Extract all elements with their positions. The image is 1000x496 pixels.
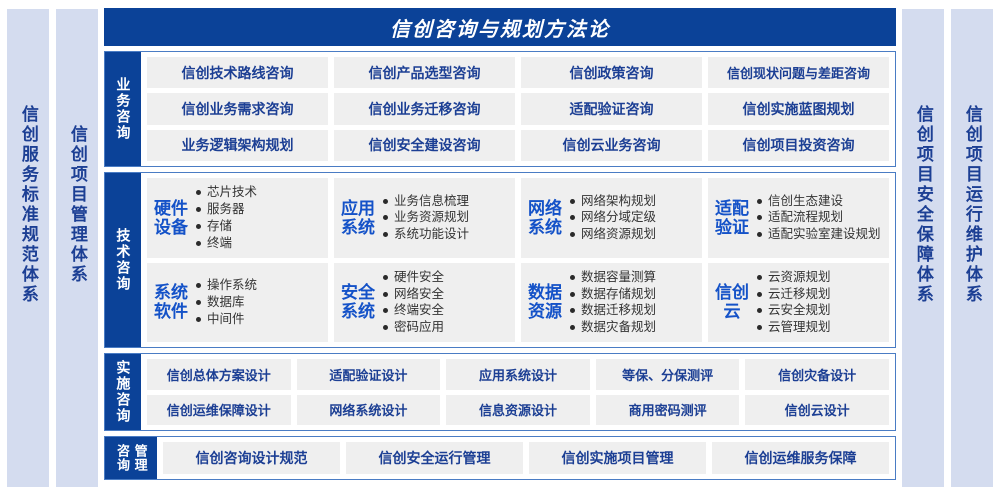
card-list-item: 服务器 [195, 201, 322, 218]
card-security-system[interactable]: 安全系统 硬件安全 网络安全 终端安全 密码应用 [334, 263, 515, 343]
card-application-system[interactable]: 应用系统 业务信息梳理 业务资源规划 系统功能设计 [334, 178, 515, 258]
card-list-item: 芯片技术 [195, 184, 322, 201]
card-title: 应用系统 [340, 199, 376, 237]
card-list-item: 网络分域定级 [569, 209, 696, 226]
band-label-technical-consulting-text: 技术咨询 [116, 228, 131, 292]
card-list-item: 网络安全 [382, 286, 509, 303]
card-list-item: 终端安全 [382, 302, 509, 319]
card-list: 硬件安全 网络安全 终端安全 密码应用 [382, 269, 509, 336]
band-label-implementation-consulting-text: 实施咨询 [116, 360, 131, 424]
chip-item[interactable]: 信创现状问题与差距咨询 [708, 57, 889, 88]
diagram-root: 信创服务标准规范体系 信创项目管理体系 信创咨询与规划方法论 业务咨询 信创技术… [0, 0, 1000, 496]
card-list-item: 数据容量测算 [569, 269, 696, 286]
chip-row: 信创总体方案设计 适配验证设计 应用系统设计 等保、分保测评 信创灾备设计 [147, 359, 889, 390]
card-list-item: 云资源规划 [756, 269, 883, 286]
card-list-item: 适配实验室建设规划 [756, 226, 883, 243]
chip-item[interactable]: 信创业务迁移咨询 [334, 93, 515, 124]
band-label-consulting-text: 咨询 [115, 444, 129, 472]
chip-item[interactable]: 应用系统设计 [446, 359, 590, 390]
chip-item[interactable]: 信创产品选型咨询 [334, 57, 515, 88]
band-body-consulting-management: 信创咨询设计规范 信创安全运行管理 信创实施项目管理 信创运维服务保障 [157, 437, 895, 479]
pillar-right-project-security-label: 信创项目安全保障体系 [914, 105, 932, 305]
band-label-business-consulting: 业务咨询 [105, 52, 141, 166]
band-business-consulting: 业务咨询 信创技术路线咨询 信创产品选型咨询 信创政策咨询 信创现状问题与差距咨… [104, 51, 896, 167]
chip-row: 信创技术路线咨询 信创产品选型咨询 信创政策咨询 信创现状问题与差距咨询 [147, 57, 889, 88]
card-title: 适配验证 [714, 199, 750, 237]
card-list: 芯片技术 服务器 存储 终端 [195, 184, 322, 251]
card-list-item: 中间件 [195, 311, 322, 328]
card-row: 系统软件 操作系统 数据库 中间件 安全系统 硬件安全 网络安全 终端安全 [147, 263, 889, 343]
card-hardware-devices[interactable]: 硬件设备 芯片技术 服务器 存储 终端 [147, 178, 328, 258]
card-list: 操作系统 数据库 中间件 [195, 277, 322, 327]
chip-item[interactable]: 信创咨询设计规范 [163, 442, 340, 474]
chip-item[interactable]: 信创项目投资咨询 [708, 130, 889, 161]
chip-item[interactable]: 适配验证设计 [297, 359, 441, 390]
band-label-consulting-management: 咨询 管理 [105, 437, 157, 479]
chip-item[interactable]: 信创技术路线咨询 [147, 57, 328, 88]
card-title: 信创云 [714, 283, 750, 321]
card-list-item: 网络架构规划 [569, 193, 696, 210]
chip-item[interactable]: 信创政策咨询 [521, 57, 702, 88]
card-network-system[interactable]: 网络系统 网络架构规划 网络分域定级 网络资源规划 [521, 178, 702, 258]
card-row: 硬件设备 芯片技术 服务器 存储 终端 应用系统 业务信息梳理 业务资源规划 [147, 178, 889, 258]
chip-item[interactable]: 信创实施蓝图规划 [708, 93, 889, 124]
card-list: 网络架构规划 网络分域定级 网络资源规划 [569, 193, 696, 243]
card-list-item: 密码应用 [382, 319, 509, 336]
chip-item[interactable]: 信创灾备设计 [745, 359, 889, 390]
card-list-item: 网络资源规划 [569, 226, 696, 243]
card-list: 云资源规划 云迁移规划 云安全规划 云管理规划 [756, 269, 883, 336]
card-list: 数据容量测算 数据存储规划 数据迁移规划 数据灾备规划 [569, 269, 696, 336]
chip-item[interactable]: 信息资源设计 [446, 395, 590, 426]
card-xinchuang-cloud[interactable]: 信创云 云资源规划 云迁移规划 云安全规划 云管理规划 [708, 263, 889, 343]
card-list-item: 终端 [195, 235, 322, 252]
chip-item[interactable]: 网络系统设计 [297, 395, 441, 426]
pillar-right-project-operations: 信创项目运行维护体系 [950, 8, 994, 488]
card-list-item: 业务资源规划 [382, 209, 509, 226]
pillar-left-service-standard-label: 信创服务标准规范体系 [19, 105, 37, 305]
chip-item[interactable]: 信创业务需求咨询 [147, 93, 328, 124]
pillar-left-service-standard: 信创服务标准规范体系 [6, 8, 50, 488]
card-list-item: 数据库 [195, 294, 322, 311]
card-list-item: 云迁移规划 [756, 286, 883, 303]
band-body-business-consulting: 信创技术路线咨询 信创产品选型咨询 信创政策咨询 信创现状问题与差距咨询 信创业… [141, 52, 895, 166]
chip-item[interactable]: 信创运维服务保障 [712, 442, 889, 474]
chip-item[interactable]: 商用密码测评 [596, 395, 740, 426]
card-list: 业务信息梳理 业务资源规划 系统功能设计 [382, 193, 509, 243]
chip-item[interactable]: 信创安全建设咨询 [334, 130, 515, 161]
card-list-item: 系统功能设计 [382, 226, 509, 243]
card-adaptation-verification[interactable]: 适配验证 信创生态建设 适配流程规划 适配实验室建设规划 [708, 178, 889, 258]
card-list-item: 存储 [195, 218, 322, 235]
card-list-item: 业务信息梳理 [382, 193, 509, 210]
chip-item[interactable]: 业务逻辑架构规划 [147, 130, 328, 161]
pillar-left-project-management: 信创项目管理体系 [55, 8, 99, 488]
band-label-business-consulting-text: 业务咨询 [116, 77, 131, 141]
chip-row: 信创运维保障设计 网络系统设计 信息资源设计 商用密码测评 信创云设计 [147, 395, 889, 426]
card-data-resources[interactable]: 数据资源 数据容量测算 数据存储规划 数据迁移规划 数据灾备规划 [521, 263, 702, 343]
card-list-item: 操作系统 [195, 277, 322, 294]
chip-item[interactable]: 适配验证咨询 [521, 93, 702, 124]
chip-item[interactable]: 信创实施项目管理 [529, 442, 706, 474]
band-label-technical-consulting: 技术咨询 [105, 173, 141, 347]
band-consulting-management: 咨询 管理 信创咨询设计规范 信创安全运行管理 信创实施项目管理 信创运维服务保… [104, 436, 896, 480]
band-label-management-text: 管理 [133, 444, 147, 472]
chip-item[interactable]: 信创安全运行管理 [346, 442, 523, 474]
pillar-left-project-management-label: 信创项目管理体系 [68, 125, 86, 285]
band-technical-consulting: 技术咨询 硬件设备 芯片技术 服务器 存储 终端 应用系统 [104, 172, 896, 348]
center-column: 信创咨询与规划方法论 业务咨询 信创技术路线咨询 信创产品选型咨询 信创政策咨询… [104, 8, 896, 488]
card-list-item: 数据灾备规划 [569, 319, 696, 336]
chip-item[interactable]: 信创总体方案设计 [147, 359, 291, 390]
chip-row: 业务逻辑架构规划 信创安全建设咨询 信创云业务咨询 信创项目投资咨询 [147, 130, 889, 161]
pillar-right-project-security: 信创项目安全保障体系 [901, 8, 945, 488]
chip-row: 信创咨询设计规范 信创安全运行管理 信创实施项目管理 信创运维服务保障 [163, 442, 889, 474]
chip-item[interactable]: 信创云业务咨询 [521, 130, 702, 161]
diagram-title: 信创咨询与规划方法论 [104, 8, 896, 46]
chip-item[interactable]: 等保、分保测评 [596, 359, 740, 390]
chip-item[interactable]: 信创云设计 [745, 395, 889, 426]
card-list-item: 云管理规划 [756, 319, 883, 336]
card-title: 系统软件 [153, 283, 189, 321]
card-title: 数据资源 [527, 283, 563, 321]
chip-item[interactable]: 信创运维保障设计 [147, 395, 291, 426]
chip-row: 信创业务需求咨询 信创业务迁移咨询 适配验证咨询 信创实施蓝图规划 [147, 93, 889, 124]
card-list: 信创生态建设 适配流程规划 适配实验室建设规划 [756, 193, 883, 243]
band-body-implementation-consulting: 信创总体方案设计 适配验证设计 应用系统设计 等保、分保测评 信创灾备设计 信创… [141, 354, 895, 430]
pillar-right-project-operations-label: 信创项目运行维护体系 [963, 105, 981, 305]
card-list-item: 适配流程规划 [756, 209, 883, 226]
card-title: 网络系统 [527, 199, 563, 237]
card-title: 硬件设备 [153, 199, 189, 237]
card-list-item: 硬件安全 [382, 269, 509, 286]
card-list-item: 数据迁移规划 [569, 302, 696, 319]
band-label-implementation-consulting: 实施咨询 [105, 354, 141, 430]
card-list-item: 数据存储规划 [569, 286, 696, 303]
card-title: 安全系统 [340, 283, 376, 321]
card-system-software[interactable]: 系统软件 操作系统 数据库 中间件 [147, 263, 328, 343]
card-list-item: 信创生态建设 [756, 193, 883, 210]
band-implementation-consulting: 实施咨询 信创总体方案设计 适配验证设计 应用系统设计 等保、分保测评 信创灾备… [104, 353, 896, 431]
band-body-technical-consulting: 硬件设备 芯片技术 服务器 存储 终端 应用系统 业务信息梳理 业务资源规划 [141, 173, 895, 347]
card-list-item: 云安全规划 [756, 302, 883, 319]
